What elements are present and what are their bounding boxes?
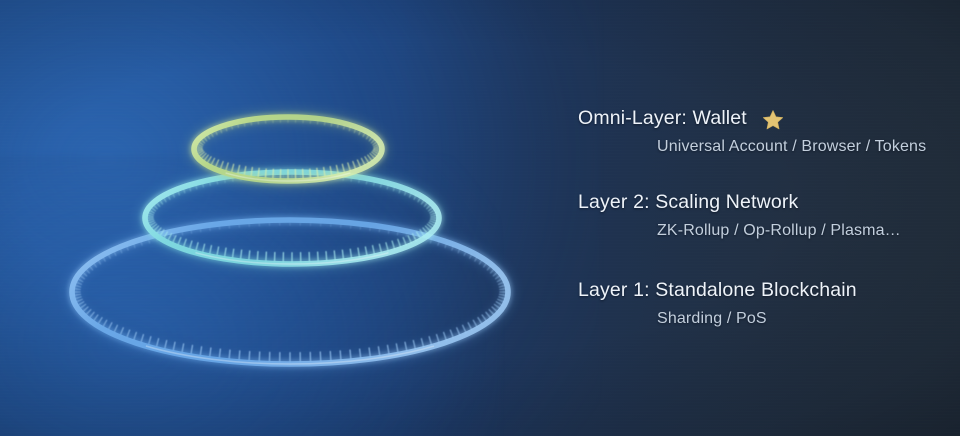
layer-subtitle-omni-layer: Universal Account / Browser / Tokens [657, 136, 926, 157]
layer-entry-omni-layer: Omni-Layer: Wallet Universal Account / B… [578, 106, 926, 157]
layer-legend: Omni-Layer: Wallet Universal Account / B… [0, 0, 960, 436]
layer-heading-text: Omni-Layer: Wallet [578, 106, 747, 131]
star-icon [762, 109, 784, 131]
layer-subtitle-layer-2: ZK-Rollup / Op-Rollup / Plasma… [657, 220, 901, 241]
layer-entry-layer-2: Layer 2: Scaling Network ZK-Rollup / Op-… [578, 190, 901, 241]
diagram-canvas: Omni-Layer: Wallet Universal Account / B… [0, 0, 960, 436]
layer-heading-layer-1: Layer 1: Standalone Blockchain [578, 278, 857, 303]
layer-heading-omni-layer: Omni-Layer: Wallet [578, 106, 926, 131]
layer-entry-layer-1: Layer 1: Standalone Blockchain Sharding … [578, 278, 857, 329]
layer-heading-text: Layer 2: Scaling Network [578, 190, 798, 215]
layer-subtitle-layer-1: Sharding / PoS [657, 308, 857, 329]
layer-heading-text: Layer 1: Standalone Blockchain [578, 278, 857, 303]
layer-heading-layer-2: Layer 2: Scaling Network [578, 190, 901, 215]
